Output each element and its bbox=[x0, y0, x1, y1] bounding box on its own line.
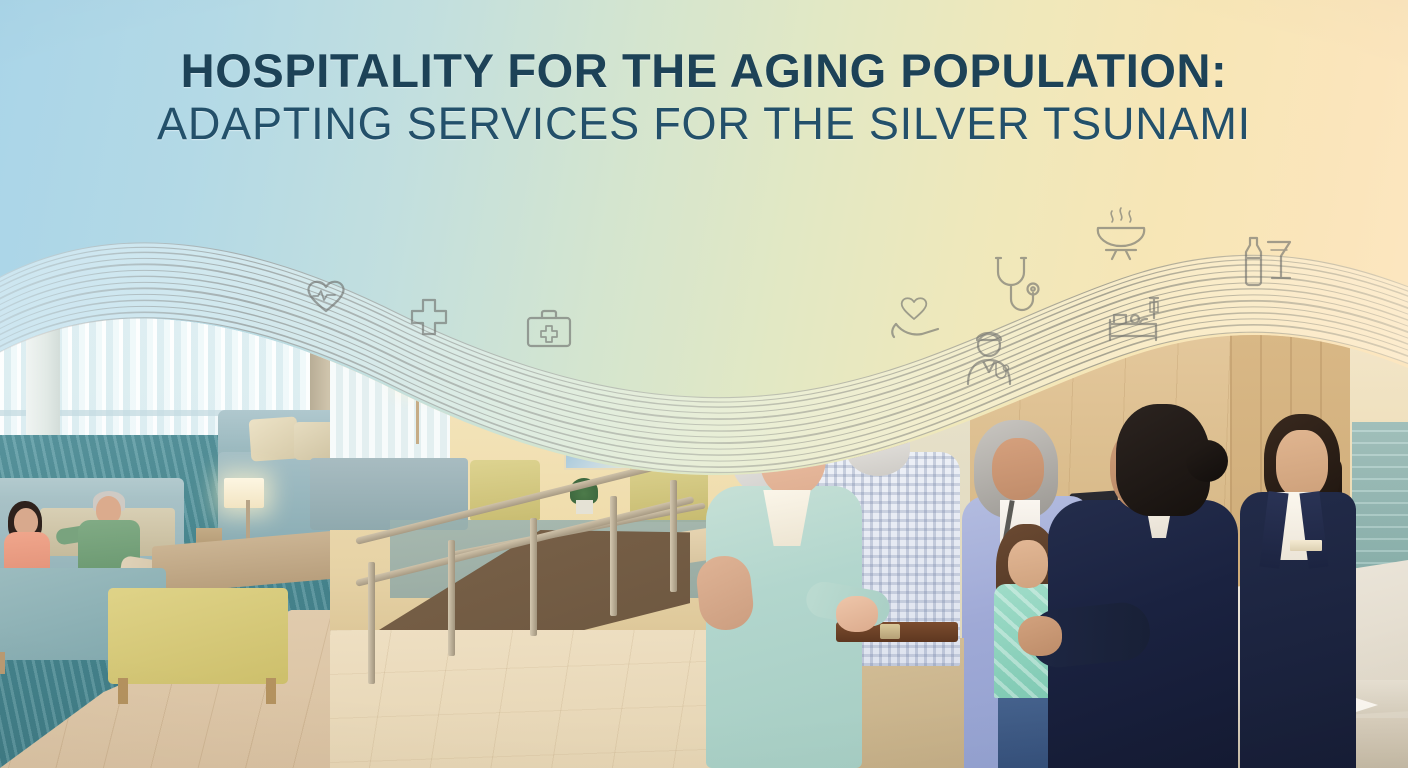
bottle-glass-icon bbox=[1246, 238, 1290, 285]
floor-lamp bbox=[402, 362, 436, 388]
handrail-post bbox=[610, 496, 617, 616]
stethoscope-icon bbox=[996, 258, 1039, 310]
floor-lamp bbox=[224, 478, 264, 508]
mature-woman-guest-face bbox=[992, 438, 1044, 500]
headline-line-2: ADAPTING SERVICES FOR THE SILVER TSUNAMI bbox=[0, 97, 1408, 150]
yellow-ottoman bbox=[108, 588, 288, 684]
seated-senior-woman-face bbox=[14, 508, 38, 535]
handrail-post bbox=[670, 480, 677, 592]
heartbeat-heart-icon bbox=[308, 282, 343, 311]
foreground-senior-man-beard bbox=[846, 424, 910, 476]
reception-staff-background-face bbox=[1276, 430, 1328, 498]
throw-pillow bbox=[249, 416, 300, 461]
handrail-post bbox=[530, 518, 537, 636]
foreground-senior-woman-face bbox=[760, 418, 826, 496]
handrail-post bbox=[368, 562, 375, 684]
headline-line-1: HOSPITALITY FOR THE AGING POPULATION: bbox=[0, 44, 1408, 97]
hospital-bed-iv-icon bbox=[1110, 298, 1158, 340]
foreground-senior-woman-hair-front bbox=[728, 394, 794, 466]
staff-name-badge bbox=[1290, 540, 1322, 551]
young-girl-guest-face bbox=[1008, 540, 1048, 588]
banner-canvas: HOSPITALITY FOR THE AGING POPULATION: AD… bbox=[0, 0, 1408, 768]
foreground-senior-man-hair bbox=[822, 354, 918, 440]
yellow-ottoman-legs bbox=[118, 678, 276, 704]
first-aid-kit-icon bbox=[528, 311, 570, 346]
floor-lamp-pole bbox=[416, 382, 419, 444]
belt-buckle bbox=[880, 624, 900, 639]
framed-artwork bbox=[564, 436, 634, 470]
hand-holding-heart-icon bbox=[892, 298, 938, 337]
page-title: HOSPITALITY FOR THE AGING POPULATION: AD… bbox=[0, 44, 1408, 150]
hair-bun bbox=[1186, 440, 1228, 482]
plant-pot bbox=[576, 500, 593, 514]
medical-cross-icon bbox=[412, 300, 446, 334]
doctor-icon bbox=[968, 333, 1010, 384]
handrail-post bbox=[448, 540, 455, 656]
reception-staff-foreground-hand bbox=[1018, 616, 1062, 656]
soup-bowl-icon bbox=[1098, 208, 1144, 259]
hero-photo-collage bbox=[0, 0, 1408, 768]
clasped-hands bbox=[836, 596, 878, 632]
